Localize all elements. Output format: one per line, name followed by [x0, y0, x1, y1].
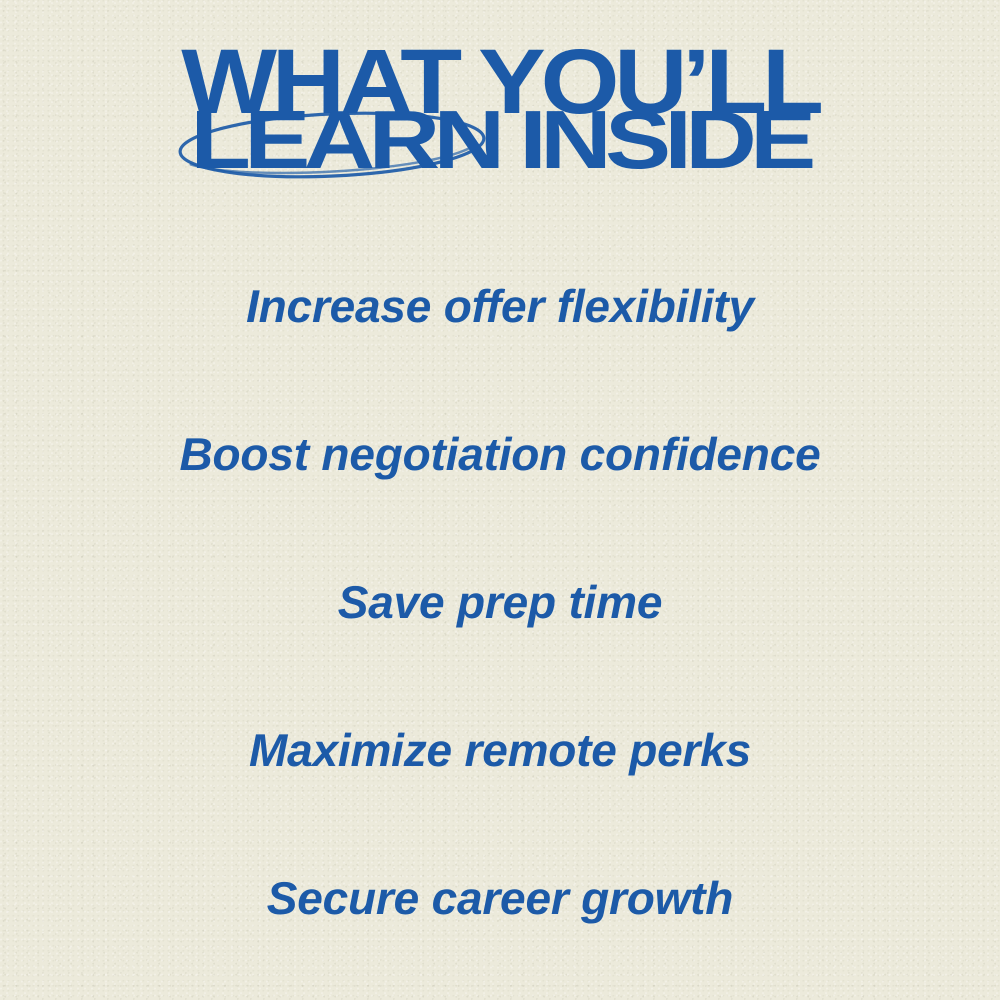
list-item: Secure career growth [0, 824, 1000, 972]
list-item: Increase offer flexibility [0, 232, 1000, 380]
list-item: Boost negotiation confidence [0, 380, 1000, 528]
benefit-label: Save prep time [338, 579, 662, 625]
list-item: Maximize remote perks [0, 676, 1000, 824]
benefit-label: Increase offer flexibility [246, 283, 754, 329]
benefit-label: Maximize remote perks [249, 727, 751, 773]
headline-line-2: LEARN INSIDE [190, 94, 813, 187]
benefit-label: Secure career growth [267, 875, 733, 921]
headline-graphic: .hl { font-family: "Liberation Sans", sa… [0, 44, 1000, 194]
headline-block: .hl { font-family: "Liberation Sans", sa… [0, 44, 1000, 194]
poster-canvas: .hl { font-family: "Liberation Sans", sa… [0, 0, 1000, 1000]
list-item: Save prep time [0, 528, 1000, 676]
benefit-label: Boost negotiation confidence [180, 431, 821, 477]
benefits-list: Increase offer flexibility Boost negotia… [0, 232, 1000, 972]
